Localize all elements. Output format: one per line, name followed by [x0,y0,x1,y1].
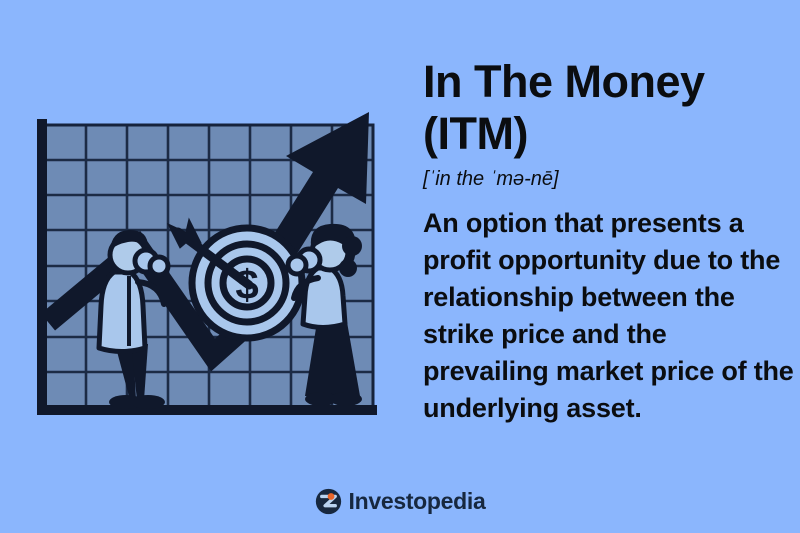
page-title: In The Money (ITM) [423,56,795,160]
definition-text: An option that presents a profit opportu… [423,205,795,427]
brand-wordmark: Investopedia [349,488,486,515]
brand-footer: Investopedia [0,488,800,515]
stock-chart-illustration: $ [18,100,400,430]
definition-card: $ [0,0,800,533]
pronunciation-text: [ˈin the ˈmə-nē] [423,167,795,191]
investopedia-logo-icon [315,488,342,515]
definition-text-column: In The Money (ITM) [ˈin the ˈmə-nē] An o… [423,56,795,427]
